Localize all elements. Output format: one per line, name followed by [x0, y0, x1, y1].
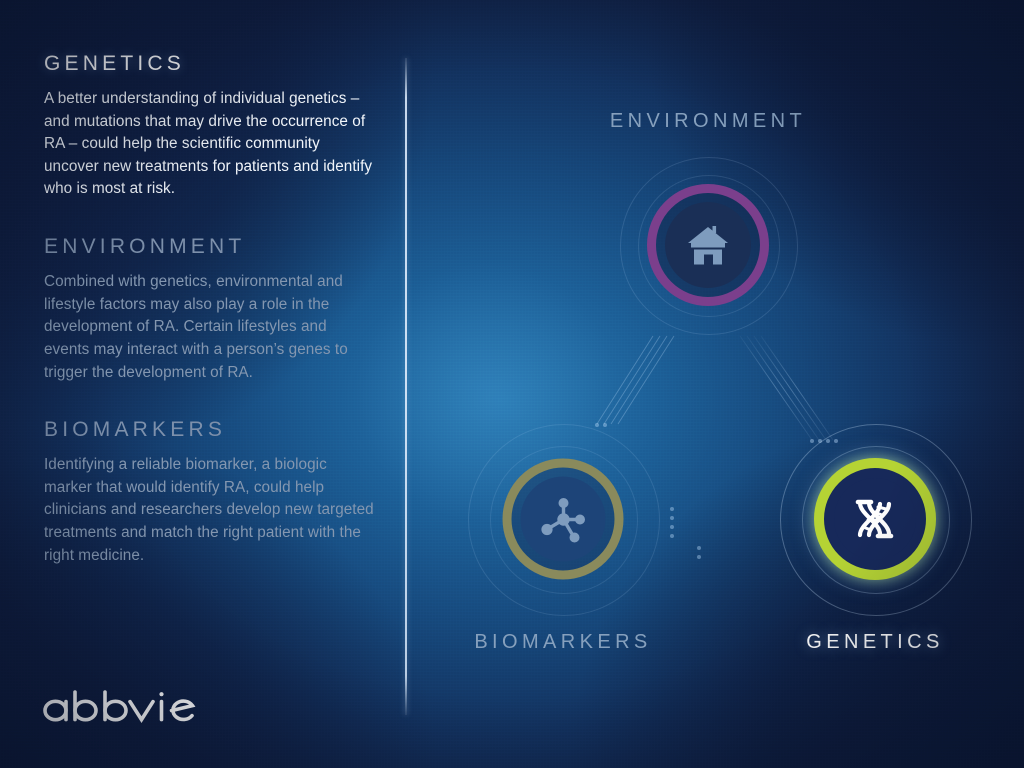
node-genetics-label: GENETICS — [715, 631, 1024, 654]
node-biomarkers-label: BIOMARKERS — [403, 631, 723, 654]
section-biomarkers-title: BIOMARKERS — [44, 418, 374, 441]
text-panel: GENETICS A better understanding of indiv… — [44, 52, 374, 601]
node-biomarkers-core — [521, 477, 606, 562]
section-environment-body: Combined with genetics, environmental an… — [44, 271, 374, 384]
section-environment-title: ENVIRONMENT — [44, 235, 374, 258]
molecule-icon — [535, 491, 591, 547]
section-biomarkers[interactable]: BIOMARKERS Identifying a reliable biomar… — [44, 418, 374, 567]
node-environment-core — [665, 202, 751, 288]
section-biomarkers-body: Identifying a reliable biomarker, a biol… — [44, 454, 374, 567]
vertical-divider — [405, 58, 407, 715]
section-genetics-title: GENETICS — [44, 52, 374, 75]
node-environment-label: ENVIRONMENT — [548, 110, 868, 133]
abbvie-logo — [42, 688, 242, 728]
slide-canvas: GENETICS A better understanding of indiv… — [0, 0, 1024, 768]
house-icon — [685, 223, 731, 267]
concept-diagram: ENVIRONMENT BIOMARKERS — [410, 0, 1024, 768]
node-genetics-core — [834, 478, 916, 560]
section-genetics[interactable]: GENETICS A better understanding of indiv… — [44, 52, 374, 201]
section-environment[interactable]: ENVIRONMENT Combined with genetics, envi… — [44, 235, 374, 384]
dna-icon — [850, 494, 900, 544]
section-genetics-body: A better understanding of individual gen… — [44, 88, 374, 201]
